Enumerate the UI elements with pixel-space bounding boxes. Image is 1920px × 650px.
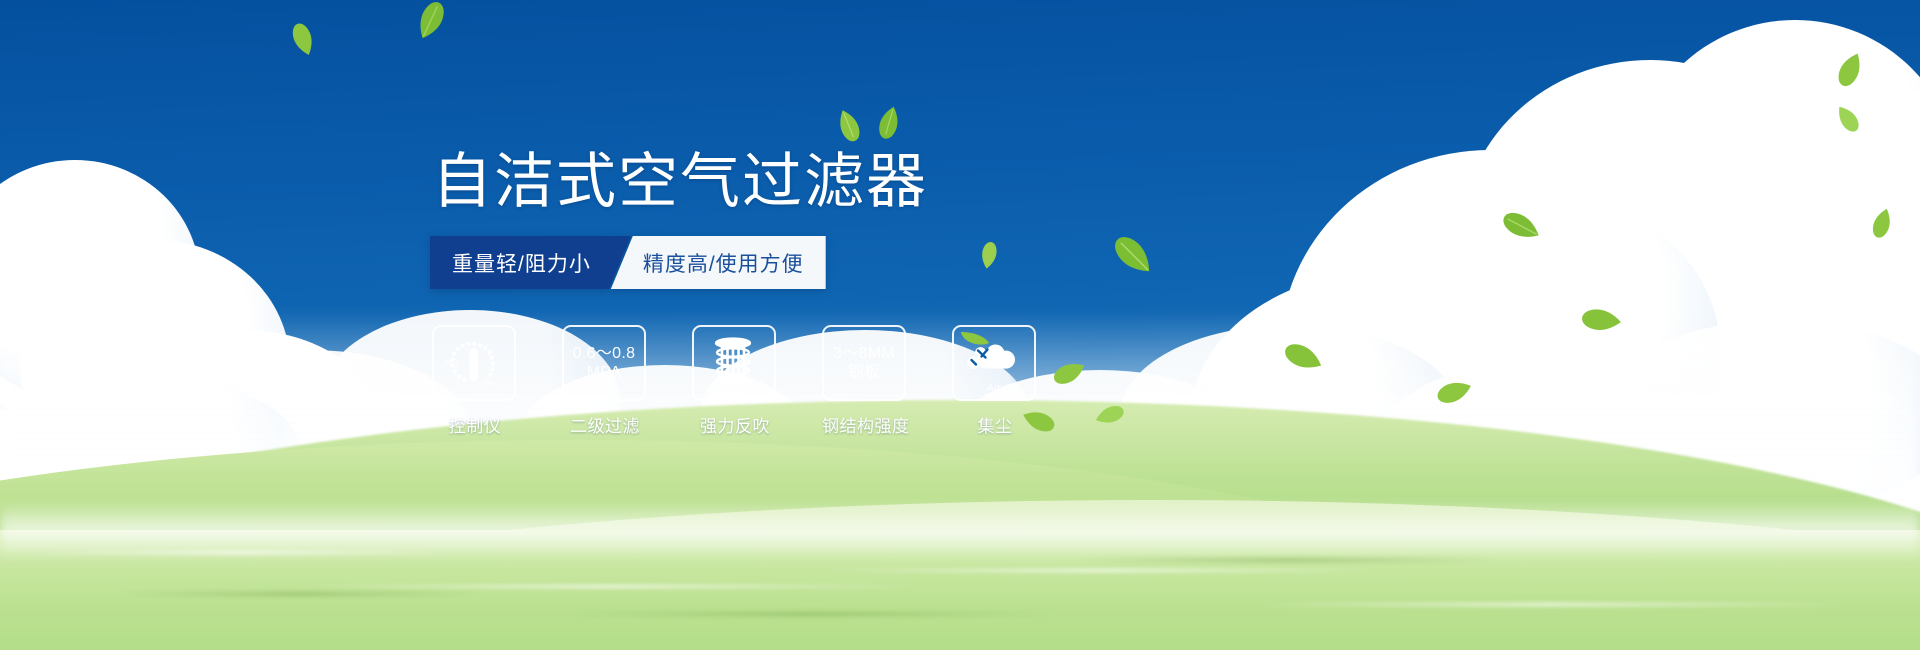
tagline-ribbon: 重量轻/阻力小 精度高/使用方便: [430, 236, 826, 289]
filter-cartridge-icon: [707, 335, 761, 391]
feature-box: 0.6～0.8 MPA: [562, 325, 646, 401]
tagline-secondary: 精度高/使用方便: [611, 236, 826, 289]
feature-box: 3～8MM 钢板: [822, 325, 906, 401]
feature-label: 集尘: [952, 412, 1038, 437]
feature-label: 控制仪: [432, 412, 518, 437]
feature-label: 强力反吹: [692, 412, 778, 437]
feature-item-control-instrument[interactable]: NO OFF 控制仪: [432, 325, 518, 437]
air-label: Air: [954, 382, 1034, 394]
tagline-primary: 重量轻/阻力小: [430, 236, 631, 289]
feature-item-steel-strength[interactable]: 3～8MM 钢板 钢结构强度: [822, 325, 908, 437]
product-hero-banner: 自洁式空气过滤器 重量轻/阻力小 精度高/使用方便: [0, 0, 1920, 650]
feature-label: 钢结构强度: [822, 412, 908, 437]
feature-box: [692, 325, 776, 401]
feature-list: NO OFF 控制仪 0.6～0.8 MPA 二级过滤: [432, 325, 1038, 437]
banner-content: 自洁式空气过滤器 重量轻/阻力小 精度高/使用方便: [0, 0, 1920, 650]
feature-box: NO OFF: [432, 325, 516, 401]
gauge-dial-icon: NO OFF: [444, 336, 504, 390]
page-title: 自洁式空气过滤器: [432, 133, 928, 220]
svg-text:OFF: OFF: [482, 379, 497, 389]
leaf-icon: [960, 331, 990, 358]
feature-item-strong-blowback[interactable]: 强力反吹: [692, 325, 778, 437]
feature-label: 二级过滤: [562, 412, 648, 437]
feature-item-two-stage-filter[interactable]: 0.6～0.8 MPA 二级过滤: [562, 325, 648, 437]
feature-item-dust-collection[interactable]: Air 集尘: [952, 325, 1038, 437]
steel-plate-text-icon: 3～8MM 钢板: [833, 344, 895, 382]
svg-text:NO: NO: [446, 357, 458, 366]
feature-box: Air: [952, 325, 1036, 401]
pressure-text-icon: 0.6～0.8 MPA: [573, 344, 636, 382]
